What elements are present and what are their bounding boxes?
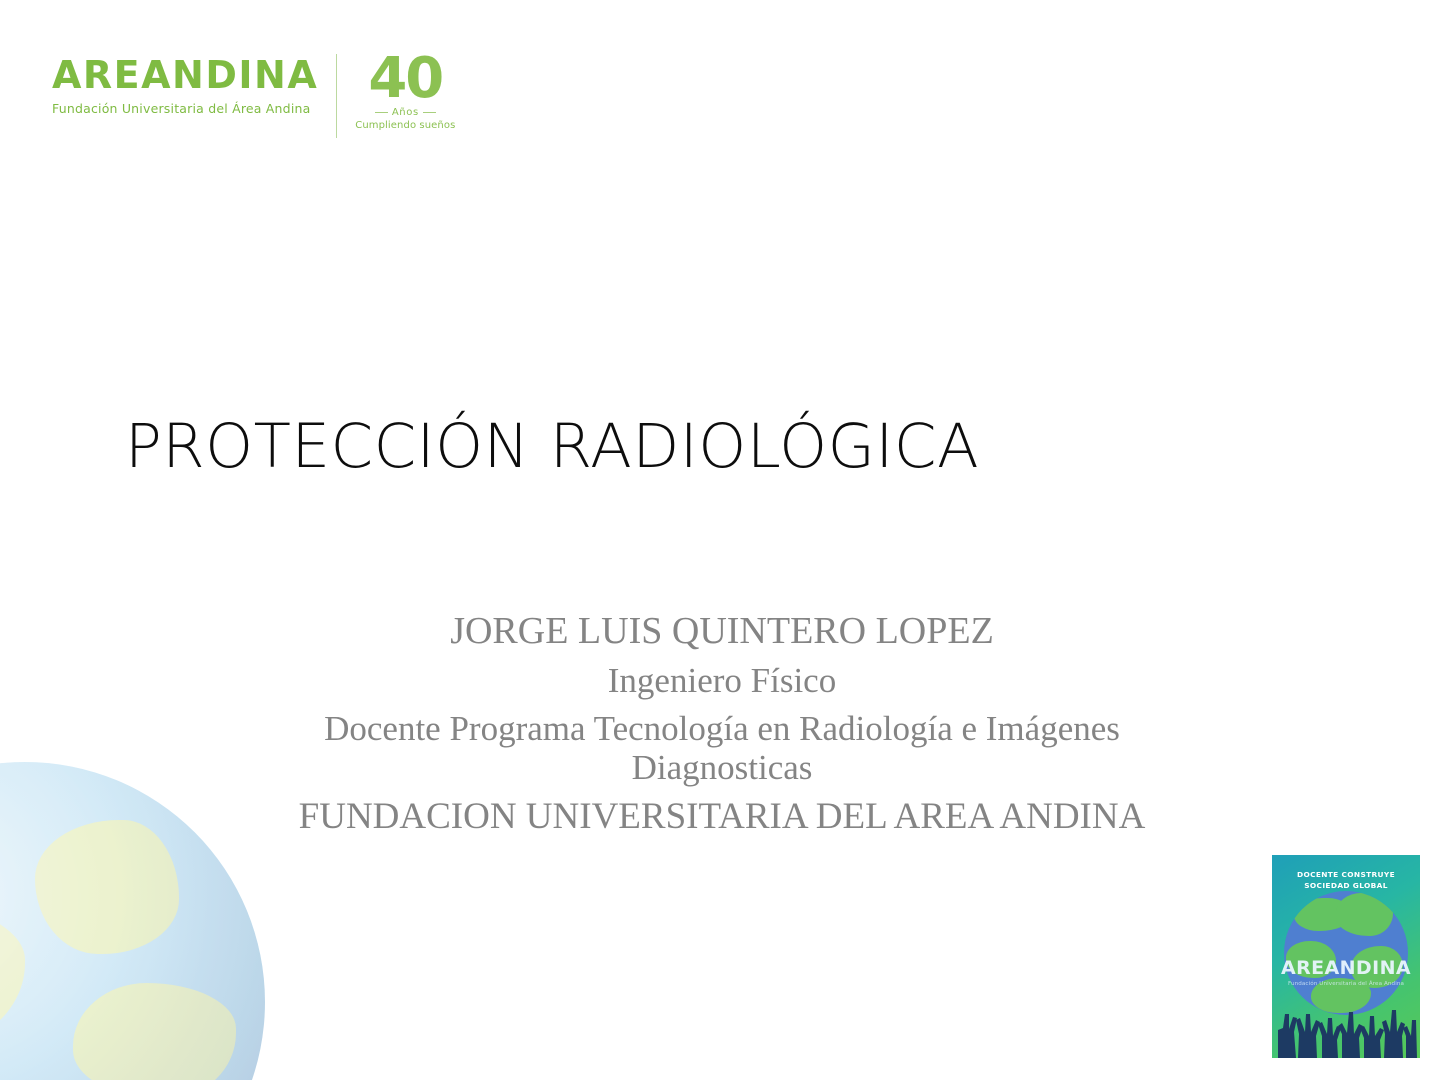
badge-caption: DOCENTE CONSTRUYE SOCIEDAD GLOBAL — [1272, 869, 1420, 891]
author-block: JORGE LUIS QUINTERO LOPEZ Ingeniero Físi… — [242, 610, 1202, 838]
badge-globe-landmass — [1336, 893, 1393, 935]
anniversary-sublabel: Cumpliendo sueños — [355, 120, 455, 131]
campaign-badge-image: DOCENTE CONSTRUYE SOCIEDAD GLOBAL AREAND… — [1272, 855, 1420, 1058]
logo-primary: AREANDINA Fundación Universitaria del Ár… — [52, 52, 318, 116]
author-name: JORGE LUIS QUINTERO LOPEZ — [242, 610, 1202, 653]
logo-wordmark: AREANDINA — [52, 56, 318, 94]
raised-hands-icon — [1272, 984, 1420, 1058]
logo-divider — [336, 54, 337, 138]
badge-caption-line-2: SOCIEDAD GLOBAL — [1272, 880, 1420, 891]
author-role: Ingeniero Físico — [242, 661, 1202, 700]
badge-caption-line-1: DOCENTE CONSTRUYE — [1272, 869, 1420, 880]
anniversary-number: 40 — [368, 52, 442, 105]
author-position: Docente Programa Tecnología en Radiologí… — [242, 709, 1202, 787]
background-globe-graphic — [0, 762, 265, 1080]
presentation-slide: AREANDINA Fundación Universitaria del Ár… — [0, 0, 1440, 1080]
page-title: PROTECCIÓN RADIOLÓGICA — [125, 411, 979, 482]
logo-tagline: Fundación Universitaria del Área Andina — [52, 103, 318, 116]
author-organization: FUNDACION UNIVERSITARIA DEL AREA ANDINA — [242, 796, 1202, 837]
areandina-logo: AREANDINA Fundación Universitaria del Ár… — [52, 52, 455, 140]
globe-shading-overlay — [0, 762, 265, 1080]
anniversary-badge: 40 Años Cumpliendo sueños — [355, 52, 455, 131]
badge-wordmark: AREANDINA — [1272, 959, 1420, 978]
